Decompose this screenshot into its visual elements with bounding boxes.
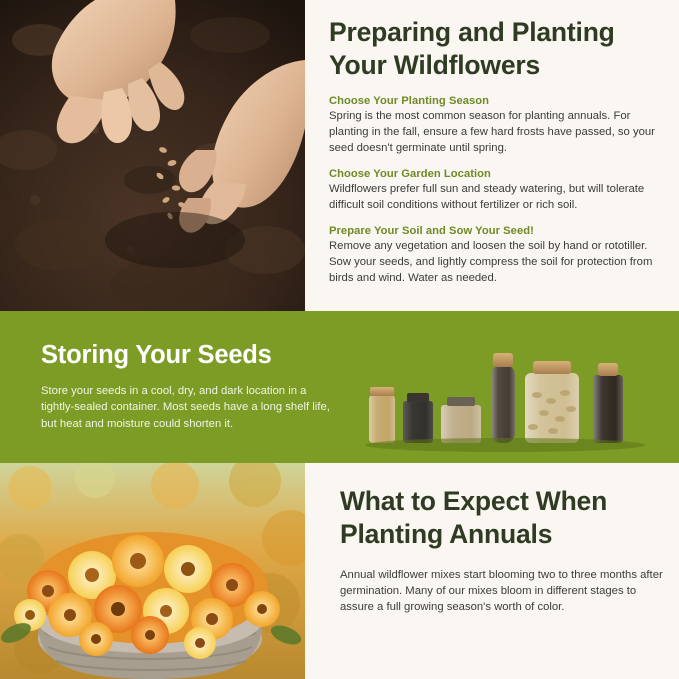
what-to-expect-title: What to Expect When Planting Annuals (340, 485, 670, 550)
paragraph-prepare-soil: Remove any vegetation and loosen the soi… (329, 238, 669, 286)
subheading-prepare-soil: Prepare Your Soil and Sow Your Seed! (329, 225, 669, 237)
storing-seeds-paragraph: Store your seeds in a cool, dry, and dar… (41, 383, 341, 432)
hand-sowing-seeds-image (0, 0, 305, 311)
what-to-expect-paragraph: Annual wildflower mixes start blooming t… (340, 567, 670, 615)
section-storing-your-seeds: Storing Your Seeds Store your seeds in a… (0, 311, 679, 463)
section-preparing-and-planting: Preparing and Planting Your Wildflowers … (0, 0, 679, 311)
infographic-page: Preparing and Planting Your Wildflowers … (0, 0, 679, 679)
hand-sowing-seeds-illustration (0, 0, 305, 311)
section-expect-text-column: What to Expect When Planting Annuals Ann… (340, 485, 670, 615)
jar-4 (491, 353, 515, 443)
section-preparing-text-column: Preparing and Planting Your Wildflowers … (329, 0, 669, 311)
jar-5 (525, 361, 579, 443)
seed-jars-image (355, 335, 655, 455)
section-what-to-expect: What to Expect When Planting Annuals Ann… (0, 463, 679, 679)
paragraph-garden-location: Wildflowers prefer full sun and steady w… (329, 181, 669, 213)
flower-basket-image (0, 463, 305, 679)
subheading-garden-location: Choose Your Garden Location (329, 168, 669, 180)
flower-basket-illustration (0, 463, 305, 679)
jar-1 (369, 387, 395, 443)
section-storing-text-column: Storing Your Seeds Store your seeds in a… (41, 341, 341, 432)
page-title: Preparing and Planting Your Wildflowers (329, 16, 669, 81)
jar-2 (403, 393, 433, 443)
seed-jars-illustration (355, 335, 655, 455)
subheading-planting-season: Choose Your Planting Season (329, 95, 669, 107)
jar-3 (441, 397, 481, 443)
jar-6 (593, 363, 623, 443)
storing-seeds-title: Storing Your Seeds (41, 341, 341, 370)
paragraph-planting-season: Spring is the most common season for pla… (329, 108, 669, 156)
